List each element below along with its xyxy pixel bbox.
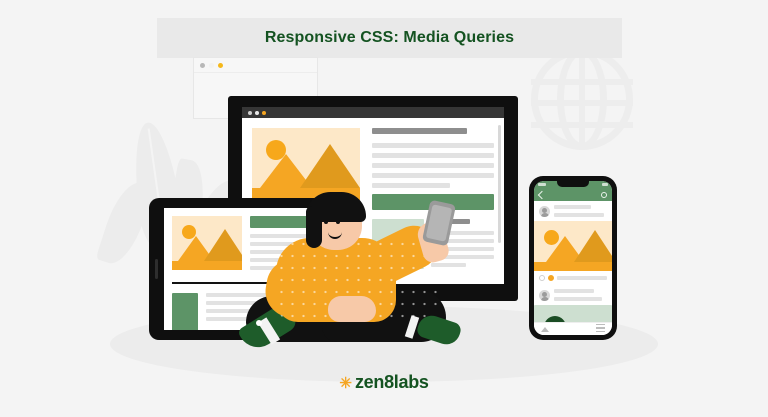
gear-icon[interactable] — [601, 192, 607, 198]
hand-left — [328, 296, 376, 322]
page-title: Responsive CSS: Media Queries — [265, 29, 514, 47]
phone-bottom-nav[interactable] — [534, 322, 612, 335]
reaction-icons[interactable] — [534, 271, 612, 285]
mountain-sun-image-placeholder — [252, 128, 360, 200]
phone-post-header — [534, 201, 612, 221]
brand-name: zen8labs — [355, 372, 429, 393]
scrollbar[interactable] — [498, 125, 501, 243]
phone-post-header-2 — [534, 285, 612, 305]
globe-axis — [579, 48, 585, 150]
phone-screen — [534, 181, 612, 335]
smartphone-device[interactable] — [529, 176, 617, 340]
asterisk-icon: ✳ — [339, 376, 352, 391]
avatar — [539, 290, 550, 301]
brand-logo: ✳ zen8labs — [0, 372, 768, 393]
mountain-sun-image-placeholder — [172, 216, 242, 270]
status-time — [538, 183, 546, 186]
eye-left — [324, 220, 328, 224]
reaction-icon-active[interactable] — [548, 275, 554, 281]
tablet-home-indicator — [155, 259, 158, 279]
monitor-browser-chrome — [242, 107, 504, 118]
avatar — [539, 206, 550, 217]
phone-notch — [557, 181, 589, 187]
window-dot-orange — [218, 63, 223, 68]
chevron-left-icon[interactable] — [538, 190, 546, 198]
status-battery — [602, 183, 608, 186]
window-dot-white — [209, 63, 214, 68]
text-line — [372, 153, 494, 158]
reaction-icon[interactable] — [539, 275, 545, 281]
hair-side — [306, 206, 322, 248]
text-line — [372, 163, 494, 168]
globe-parallel — [531, 79, 633, 85]
mountain-sun-image-placeholder — [534, 221, 612, 271]
person-sitting-with-phone — [236, 198, 486, 358]
shoe-detail — [256, 320, 262, 326]
globe-icon — [531, 48, 633, 150]
background-browser-titlebar — [194, 58, 317, 73]
window-dot-gray — [200, 63, 205, 68]
heading-placeholder — [372, 128, 467, 134]
home-icon[interactable] — [541, 327, 549, 332]
green-block — [172, 293, 198, 330]
eye-right — [336, 220, 340, 224]
globe-parallel — [531, 100, 633, 106]
phone-nav-bar — [534, 188, 612, 201]
globe-parallel — [531, 122, 633, 128]
hamburger-menu-icon[interactable] — [596, 324, 605, 334]
text-line — [372, 183, 450, 188]
page-title-banner: Responsive CSS: Media Queries — [157, 18, 622, 58]
window-dot-orange — [262, 111, 266, 115]
illustration-canvas: Responsive CSS: Media Queries — [0, 0, 768, 417]
window-dot-white — [255, 111, 259, 115]
text-line — [372, 173, 494, 178]
window-dot-gray — [248, 111, 252, 115]
text-line — [372, 143, 494, 148]
